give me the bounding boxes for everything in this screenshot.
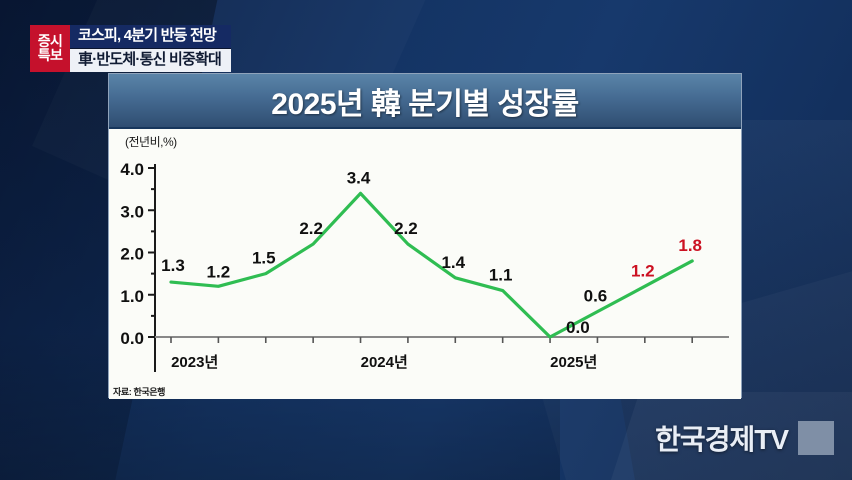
tv-broadcast-screen: 증시 특보 코스피, 4분기 반등 전망 車·반도체·통신 비중확대 2025년… [0, 0, 852, 480]
svg-text:1.2: 1.2 [207, 262, 231, 281]
svg-text:2025년: 2025년 [550, 354, 597, 371]
chart-plot-area: (전년비,%) 0.01.02.03.04.01.31.21.52.23.42.… [109, 129, 741, 399]
svg-text:1.2: 1.2 [631, 261, 655, 280]
svg-text:1.0: 1.0 [120, 287, 144, 306]
svg-text:1.1: 1.1 [489, 266, 513, 285]
svg-text:3.0: 3.0 [120, 202, 144, 221]
growth-rate-line-chart: 0.01.02.03.04.01.31.21.52.23.42.21.41.10… [109, 129, 741, 399]
station-logo-text: 한국경제TV [655, 418, 788, 458]
svg-text:2.2: 2.2 [299, 219, 323, 238]
station-logo-mark [798, 421, 834, 455]
svg-text:2023년: 2023년 [171, 354, 218, 371]
chart-title: 2025년 韓 분기별 성장률 [271, 79, 578, 123]
chart-title-bar: 2025년 韓 분기별 성장률 [109, 74, 741, 129]
svg-text:1.3: 1.3 [161, 256, 185, 275]
headline-secondary: 車·반도체·통신 비중확대 [70, 48, 231, 72]
svg-text:2024년: 2024년 [361, 354, 408, 371]
headline-primary: 코스피, 4분기 반등 전망 [70, 25, 231, 48]
svg-text:0.6: 0.6 [584, 287, 608, 306]
news-ticker: 증시 특보 코스피, 4분기 반등 전망 車·반도체·통신 비중확대 [30, 25, 231, 72]
badge-line-1: 증시 [38, 34, 63, 48]
chart-source-note: 자료: 한국은행 [113, 385, 165, 398]
svg-text:1.8: 1.8 [678, 236, 702, 255]
breaking-news-badge: 증시 특보 [30, 25, 70, 72]
chart-card: 2025년 韓 분기별 성장률 (전년비,%) 0.01.02.03.04.01… [108, 73, 742, 398]
svg-text:1.4: 1.4 [441, 253, 465, 272]
svg-text:3.4: 3.4 [347, 168, 371, 187]
svg-text:2.2: 2.2 [394, 219, 418, 238]
svg-text:0.0: 0.0 [566, 318, 590, 337]
station-logo: 한국경제TV [655, 418, 834, 458]
svg-text:1.5: 1.5 [252, 249, 276, 268]
badge-line-2: 특보 [38, 48, 63, 62]
svg-text:4.0: 4.0 [120, 160, 144, 179]
headline-stack: 코스피, 4분기 반등 전망 車·반도체·통신 비중확대 [70, 25, 231, 72]
svg-text:2.0: 2.0 [120, 245, 144, 264]
svg-text:0.0: 0.0 [120, 329, 144, 348]
